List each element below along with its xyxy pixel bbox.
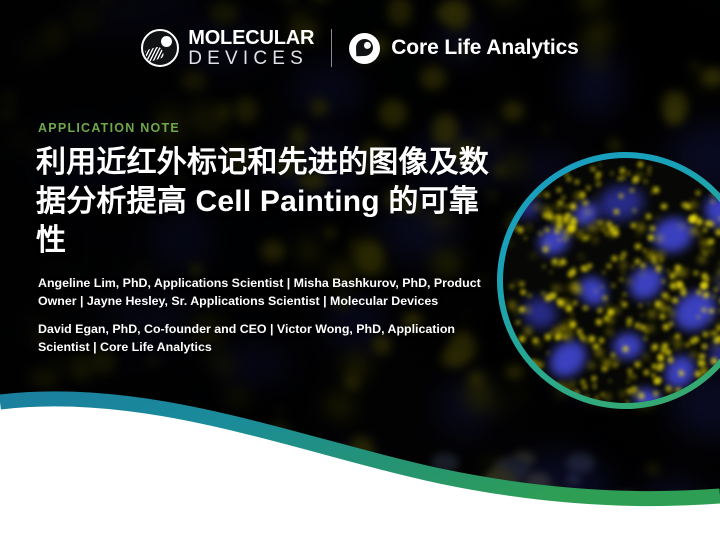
texture-blob	[692, 352, 696, 356]
texture-blob	[702, 308, 706, 312]
texture-blob	[699, 234, 701, 236]
texture-blob	[570, 203, 576, 209]
texture-blob	[557, 334, 561, 338]
texture-blob	[645, 330, 648, 333]
texture-blob	[701, 362, 705, 366]
core-life-analytics-name: Core Life Analytics	[391, 36, 579, 60]
texture-blob	[557, 215, 562, 220]
texture-blob	[583, 201, 587, 205]
texture-blob	[515, 282, 519, 286]
texture-blob	[607, 330, 612, 335]
texture-blob	[593, 344, 598, 349]
texture-blob	[504, 176, 508, 180]
page-title: 利用近红外标记和先进的图像及数据分析提高 Cell Painting 的可靠性	[36, 143, 491, 260]
texture-blob	[602, 228, 605, 231]
texture-blob	[649, 186, 652, 189]
texture-blob	[545, 193, 549, 197]
texture-blob	[543, 247, 548, 252]
texture-blob	[703, 228, 707, 232]
texture-blob	[681, 287, 684, 290]
texture-blob	[668, 357, 673, 362]
texture-blob	[648, 167, 651, 170]
texture-blob	[516, 321, 519, 324]
texture-blob	[561, 324, 567, 330]
texture-blob	[518, 227, 523, 232]
texture-blob	[557, 188, 561, 192]
texture-blob	[715, 185, 720, 190]
texture-blob	[564, 172, 568, 176]
texture-blob	[715, 345, 718, 348]
mark-teardrop-shape	[355, 38, 373, 56]
inset-nucleus	[595, 182, 646, 224]
texture-blob	[599, 164, 601, 166]
texture-blob	[714, 288, 717, 291]
texture-blob	[520, 185, 522, 187]
texture-blob	[701, 240, 707, 246]
texture-blob	[557, 299, 561, 303]
texture-blob	[554, 328, 560, 334]
texture-blob	[577, 231, 582, 236]
texture-blob	[638, 224, 644, 230]
molecular-devices-line1: MOLECULAR	[188, 28, 314, 48]
texture-blob	[652, 344, 658, 350]
texture-blob	[532, 254, 535, 257]
texture-blob	[699, 354, 704, 359]
texture-blob	[555, 229, 560, 234]
texture-blob	[635, 259, 640, 264]
texture-blob	[630, 189, 633, 192]
texture-blob	[658, 363, 664, 369]
texture-blob	[525, 328, 531, 334]
texture-blob	[641, 314, 643, 316]
texture-blob	[545, 334, 551, 340]
texture-blob	[587, 264, 591, 268]
texture-blob	[512, 184, 518, 190]
texture-blob	[550, 332, 552, 334]
texture-blob	[653, 187, 659, 193]
texture-blob	[701, 283, 706, 288]
texture-blob	[609, 230, 615, 236]
texture-blob	[670, 273, 675, 278]
texture-blob	[587, 186, 590, 189]
texture-blob	[550, 271, 552, 273]
texture-blob	[553, 220, 555, 222]
texture-blob	[702, 344, 707, 349]
texture-blob	[635, 244, 640, 249]
texture-blob	[611, 353, 615, 357]
mark-hatch-shape	[145, 46, 165, 63]
texture-blob	[606, 304, 609, 307]
texture-blob	[621, 172, 623, 174]
inset-nucleus	[623, 260, 670, 307]
texture-blob	[618, 177, 621, 180]
texture-blob	[697, 290, 701, 294]
texture-blob	[509, 243, 512, 246]
texture-blob	[661, 204, 666, 209]
texture-blob	[560, 287, 563, 290]
texture-blob	[552, 293, 556, 297]
texture-blob	[659, 265, 662, 268]
texture-blob	[648, 172, 650, 174]
texture-blob	[703, 332, 708, 337]
texture-blob	[691, 228, 697, 234]
texture-blob	[621, 263, 625, 267]
texture-blob	[545, 295, 550, 300]
texture-blob	[612, 284, 615, 287]
texture-blob	[646, 214, 651, 219]
texture-blob	[611, 172, 614, 175]
texture-blob	[575, 282, 577, 284]
texture-blob	[656, 216, 659, 219]
texture-blob	[662, 280, 665, 283]
texture-blob	[623, 293, 626, 296]
texture-blob	[620, 256, 624, 260]
texture-blob	[565, 231, 570, 236]
texture-blob	[648, 326, 653, 331]
texture-blob	[644, 370, 649, 375]
texture-blob	[627, 172, 630, 175]
texture-blob	[669, 311, 674, 316]
texture-blob	[595, 225, 599, 229]
texture-blob	[637, 234, 639, 236]
texture-blob	[663, 324, 669, 330]
texture-blob	[676, 341, 682, 347]
texture-blob	[675, 271, 679, 275]
texture-blob	[541, 364, 543, 366]
author-line-core-life-analytics: David Egan, PhD, Co-founder and CEO | Vi…	[38, 321, 493, 356]
texture-blob	[570, 224, 574, 228]
texture-blob	[519, 307, 525, 313]
texture-blob	[535, 205, 539, 209]
texture-blob	[595, 195, 597, 197]
texture-blob	[607, 264, 611, 268]
inset-nucleus	[611, 331, 644, 361]
texture-blob	[677, 282, 681, 286]
texture-blob	[524, 237, 527, 240]
texture-blob	[572, 314, 574, 316]
texture-blob	[527, 226, 531, 230]
wave-white-body	[0, 399, 720, 540]
texture-blob	[614, 308, 619, 313]
texture-blob	[547, 352, 549, 354]
texture-blob	[568, 319, 572, 323]
texture-blob	[644, 327, 647, 330]
texture-blob	[570, 269, 576, 275]
texture-blob	[669, 322, 673, 326]
texture-blob	[650, 226, 655, 231]
inset-nucleus	[699, 190, 720, 234]
texture-blob	[603, 296, 607, 300]
texture-blob	[627, 280, 630, 283]
texture-blob	[709, 222, 714, 227]
texture-blob	[566, 305, 572, 311]
texture-blob	[660, 166, 662, 168]
mark-dot-shape	[161, 36, 172, 47]
texture-blob	[536, 190, 541, 195]
texture-blob	[594, 220, 596, 222]
texture-blob	[644, 337, 647, 340]
texture-blob	[660, 314, 664, 318]
texture-blob	[622, 252, 626, 256]
texture-blob	[553, 264, 555, 266]
texture-blob	[628, 369, 632, 373]
texture-blob	[602, 367, 606, 371]
texture-blob	[591, 167, 595, 171]
texture-blob	[709, 371, 714, 376]
bottom-wave-decoration	[0, 380, 720, 540]
texture-blob	[622, 302, 627, 307]
texture-blob	[652, 373, 655, 376]
texture-blob	[714, 278, 717, 281]
texture-blob	[603, 271, 605, 273]
texture-blob	[577, 329, 582, 334]
texture-blob	[695, 371, 701, 377]
texture-blob	[667, 297, 670, 300]
texture-blob	[644, 355, 648, 359]
texture-blob	[533, 338, 538, 343]
texture-blob	[505, 194, 508, 197]
texture-blob	[580, 255, 583, 258]
texture-blob	[553, 286, 558, 291]
core-life-analytics-mark-icon	[349, 33, 380, 64]
texture-blob	[638, 162, 643, 167]
texture-blob	[683, 270, 687, 274]
texture-blob	[615, 226, 618, 229]
texture-blob	[671, 339, 675, 343]
author-list: Angeline Lim, PhD, Applications Scientis…	[38, 275, 493, 356]
texture-blob	[672, 298, 677, 303]
texture-blob	[697, 316, 700, 319]
texture-blob	[599, 182, 601, 184]
texture-blob	[596, 349, 602, 355]
texture-blob	[547, 214, 553, 220]
texture-blob	[573, 301, 577, 305]
texture-blob	[589, 363, 594, 368]
texture-blob	[648, 303, 650, 305]
texture-blob	[526, 193, 531, 198]
texture-blob	[681, 225, 683, 227]
texture-blob	[612, 256, 616, 260]
texture-blob	[667, 270, 669, 272]
texture-blob	[713, 331, 717, 335]
texture-blob	[675, 348, 677, 350]
texture-blob	[643, 249, 646, 252]
texture-blob	[607, 317, 613, 323]
texture-blob	[567, 329, 572, 334]
texture-blob	[622, 272, 624, 274]
texture-blob	[596, 172, 601, 177]
texture-blob	[696, 191, 700, 195]
texture-blob	[711, 377, 714, 380]
logo-bar: MOLECULAR DEVICES Core Life Analytics	[0, 28, 720, 68]
texture-blob	[638, 173, 642, 177]
inset-nucleus	[519, 294, 560, 333]
texture-blob	[585, 210, 590, 215]
texture-blob	[713, 295, 716, 298]
texture-blob	[614, 364, 617, 367]
texture-blob	[694, 271, 698, 275]
texture-blob	[689, 217, 694, 222]
texture-blob	[544, 207, 550, 213]
molecular-devices-mark-icon	[141, 29, 179, 67]
texture-blob	[582, 338, 585, 341]
texture-blob	[704, 252, 707, 255]
texture-blob	[634, 375, 637, 378]
texture-blob	[598, 308, 602, 312]
logo-divider	[331, 29, 332, 67]
texture-blob	[575, 180, 579, 184]
application-note-cover: MOLECULAR DEVICES Core Life Analytics AP…	[0, 0, 720, 540]
texture-blob	[623, 346, 628, 351]
texture-blob	[523, 186, 526, 189]
circular-inset	[497, 152, 720, 409]
texture-blob	[562, 196, 565, 199]
texture-blob	[514, 310, 517, 313]
texture-blob	[704, 277, 708, 281]
texture-blob	[536, 342, 540, 346]
texture-blob	[522, 291, 525, 294]
texture-blob	[675, 334, 680, 339]
molecular-devices-wordmark: MOLECULAR DEVICES	[188, 28, 314, 68]
texture-blob	[565, 205, 568, 208]
texture-blob	[620, 278, 623, 281]
texture-blob	[567, 301, 570, 304]
texture-blob	[528, 335, 530, 337]
texture-blob	[651, 192, 653, 194]
texture-blob	[567, 177, 571, 181]
texture-blob	[511, 204, 515, 208]
texture-blob	[681, 290, 686, 295]
texture-blob	[700, 222, 702, 224]
texture-blob	[699, 257, 704, 262]
texture-blob	[596, 177, 599, 180]
texture-blob	[560, 259, 566, 265]
texture-blob	[666, 354, 669, 357]
texture-blob	[528, 294, 531, 297]
texture-blob	[627, 323, 631, 327]
texture-blob	[644, 180, 647, 183]
texture-blob	[633, 180, 636, 183]
author-line-molecular-devices: Angeline Lim, PhD, Applications Scientis…	[38, 275, 493, 310]
texture-blob	[707, 248, 711, 252]
texture-blob	[690, 339, 695, 344]
texture-blob	[641, 263, 645, 267]
texture-blob	[565, 213, 571, 219]
texture-blob	[553, 215, 557, 219]
texture-blob	[519, 336, 525, 342]
texture-blob	[661, 258, 664, 261]
texture-blob	[543, 265, 546, 268]
texture-blob	[709, 309, 714, 314]
texture-blob	[649, 311, 654, 316]
texture-blob	[691, 202, 697, 208]
texture-blob	[599, 338, 604, 343]
texture-blob	[714, 338, 717, 341]
texture-blob	[588, 226, 593, 231]
texture-blob	[638, 363, 641, 366]
texture-blob	[622, 176, 625, 179]
texture-blob	[711, 358, 716, 363]
texture-blob	[631, 223, 636, 228]
texture-blob	[556, 205, 560, 209]
texture-blob	[650, 236, 653, 239]
texture-blob	[667, 307, 670, 310]
texture-blob	[596, 319, 602, 325]
molecular-devices-line2: DEVICES	[188, 49, 314, 68]
texture-blob	[542, 292, 545, 295]
texture-blob	[563, 335, 566, 338]
texture-blob	[586, 307, 588, 309]
texture-blob	[597, 160, 599, 162]
texture-blob	[582, 239, 585, 242]
texture-blob	[593, 238, 597, 242]
texture-blob	[686, 343, 690, 347]
core-life-analytics-logo[interactable]: Core Life Analytics	[349, 33, 579, 64]
texture-blob	[510, 302, 515, 307]
texture-blob	[659, 252, 664, 257]
eyebrow-label: APPLICATION NOTE	[38, 121, 180, 135]
texture-blob	[566, 335, 570, 339]
texture-blob	[639, 304, 642, 307]
texture-blob	[510, 285, 513, 288]
texture-blob	[520, 282, 524, 286]
texture-blob	[588, 235, 590, 237]
texture-blob	[569, 286, 573, 290]
texture-blob	[657, 236, 661, 240]
molecular-devices-logo[interactable]: MOLECULAR DEVICES	[141, 28, 314, 68]
texture-blob	[545, 244, 548, 247]
texture-blob	[523, 182, 525, 184]
texture-blob	[632, 265, 634, 267]
